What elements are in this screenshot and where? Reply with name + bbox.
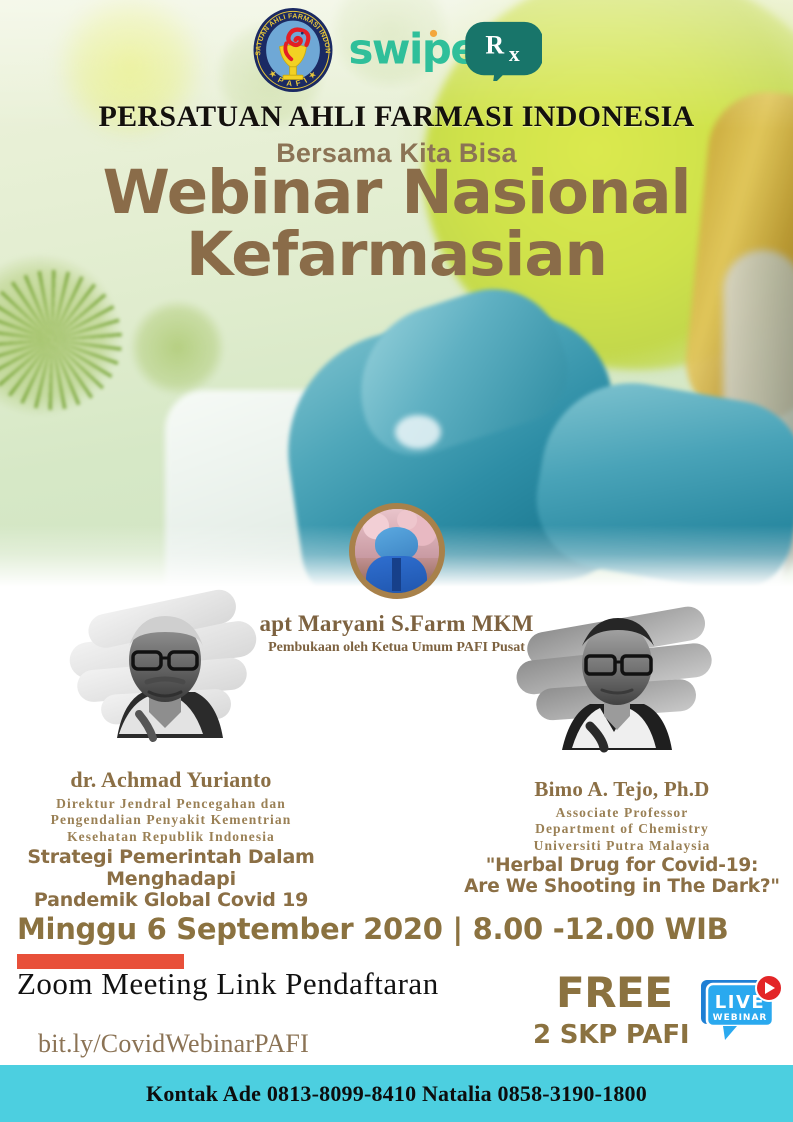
title-line-2: Kefarmasian — [0, 225, 793, 285]
topic-line: Strategi Pemerintah Dalam Menghadapi — [6, 847, 336, 890]
avatar-lapel — [392, 558, 400, 592]
swiperx-logo: swipe R x — [347, 19, 542, 81]
affiliation-line: Pengendalian Penyakit Kementrian — [6, 812, 336, 828]
left-speaker-portrait — [61, 588, 281, 763]
event-date-time: Minggu 6 September 2020 | 8.00 -12.00 WI… — [17, 912, 728, 946]
right-speaker-affiliation: Associate Professor Department of Chemis… — [457, 805, 787, 854]
webinar-poster: PERSATUAN AHLI FARMASI INDONESIA ★ P A F… — [0, 0, 793, 1122]
page-title: Webinar Nasional Kefarmasian — [0, 163, 793, 285]
credits-label: 2 SKP PAFI — [533, 1020, 689, 1050]
rx-text: R — [486, 31, 505, 60]
left-speaker-name: dr. Achmad Yurianto — [6, 767, 336, 793]
title-line-1: Webinar Nasional — [103, 157, 691, 228]
right-speaker-portrait — [512, 598, 732, 773]
right-speaker-name: Bimo A. Tejo, Ph.D — [457, 777, 787, 802]
organization-name: PERSATUAN AHLI FARMASI INDONESIA — [0, 100, 793, 134]
right-speaker-topic: "Herbal Drug for Covid-19: Are We Shooti… — [457, 856, 787, 897]
affiliation-line: Associate Professor — [457, 805, 787, 821]
live-webinar-badge: LIVE WEBINAR — [697, 972, 789, 1044]
left-speaker: dr. Achmad Yurianto Direktur Jendral Pen… — [6, 588, 336, 911]
pafi-logo: PERSATUAN AHLI FARMASI INDONESIA ★ P A F… — [251, 6, 335, 94]
topic-line: Are We Shooting in The Dark?" — [457, 877, 787, 898]
glove-highlight — [395, 415, 441, 449]
registration-link[interactable]: bit.ly/CovidWebinarPAFI — [38, 1029, 309, 1059]
affiliation-line: Kesehatan Republik Indonesia — [6, 829, 336, 845]
event-platform-line: Zoom Meeting Link Pendaftaran — [17, 966, 439, 1002]
logo-row: PERSATUAN AHLI FARMASI INDONESIA ★ P A F… — [0, 4, 793, 96]
contact-text: Kontak Ade 0813-8099-8410 Natalia 0858-3… — [146, 1081, 647, 1107]
left-speaker-affiliation: Direktur Jendral Pencegahan dan Pengenda… — [6, 796, 336, 845]
left-speaker-topic: Strategi Pemerintah Dalam Menghadapi Pan… — [6, 847, 336, 911]
right-speaker: Bimo A. Tejo, Ph.D Associate Professor D… — [457, 598, 787, 898]
live-badge-line2: WEBINAR — [713, 1013, 768, 1023]
svg-text:x: x — [509, 42, 520, 66]
affiliation-line: Department of Chemistry — [457, 821, 787, 837]
topic-line: "Herbal Drug for Covid-19: — [457, 856, 787, 877]
virus-particle-icon — [130, 300, 225, 395]
topic-line: Pandemik Global Covid 19 — [6, 890, 336, 911]
contact-bar: Kontak Ade 0813-8099-8410 Natalia 0858-3… — [0, 1065, 793, 1122]
affiliation-line: Universiti Putra Malaysia — [457, 838, 787, 854]
price-label: FREE — [556, 968, 672, 1017]
affiliation-line: Direktur Jendral Pencegahan dan — [6, 796, 336, 812]
avatar — [349, 503, 445, 599]
swipe-wordmark-text: swipe — [349, 25, 478, 74]
